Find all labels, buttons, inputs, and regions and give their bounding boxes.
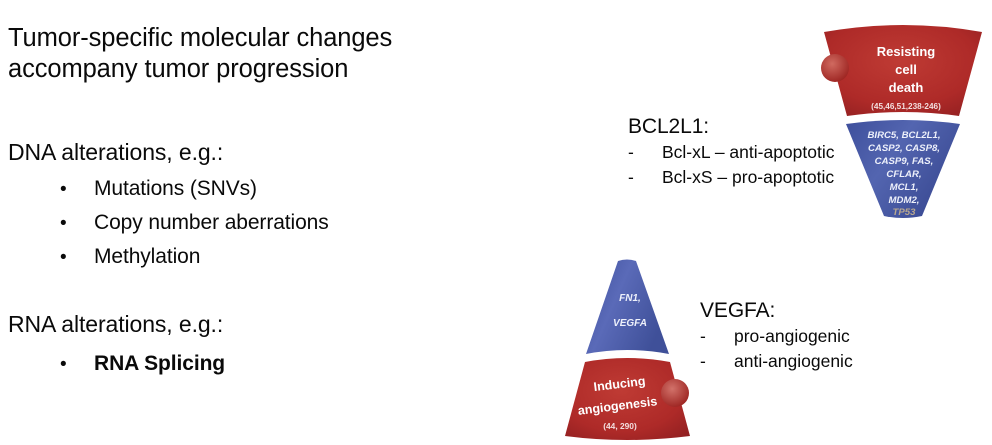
hallmark-citation: (45,46,51,238-246) — [871, 102, 941, 111]
list-item-label: RNA Splicing — [94, 347, 225, 380]
figure-resisting-cell-death: Resisting cell death (45,46,51,238-246) … — [818, 20, 988, 220]
bullet-dot-icon: • — [60, 173, 94, 206]
wedge-bump-circle — [661, 379, 689, 407]
section-heading-rna: RNA alterations, e.g.: — [8, 310, 223, 338]
list-item: - Bcl-xS – pro-apoptotic — [628, 165, 835, 190]
wedge-bump-circle — [821, 54, 849, 82]
list-item: • Methylation — [60, 240, 329, 274]
callout-title: BCL2L1: — [628, 113, 835, 140]
rna-bullet-list: • RNA Splicing — [60, 347, 225, 381]
gene-line: CASP2, CASP8, — [868, 143, 940, 154]
list-item: - pro-angiogenic — [700, 324, 853, 349]
dna-bullet-list: • Mutations (SNVs) • Copy number aberrat… — [60, 172, 329, 274]
section-heading-dna: DNA alterations, e.g.: — [8, 138, 223, 166]
bullet-dot-icon: • — [60, 207, 94, 240]
bullet-dot-icon: • — [60, 241, 94, 274]
hallmark-label-line-1: Resisting — [877, 44, 936, 59]
list-item: • Mutations (SNVs) — [60, 172, 329, 206]
callout-title: VEGFA: — [700, 297, 853, 324]
dash-marker-icon: - — [628, 165, 662, 190]
gene-line: CFLAR, — [886, 169, 921, 180]
hallmark-label-line-3: death — [889, 80, 924, 95]
list-item: - anti-angiogenic — [700, 349, 853, 374]
gene-line: VEGFA — [613, 318, 647, 329]
list-item: - Bcl-xL – anti-apoptotic — [628, 140, 835, 165]
gene-line: MDM2, — [889, 195, 920, 206]
list-item-label: pro-angiogenic — [734, 324, 850, 349]
gene-line: FN1, — [619, 293, 641, 304]
bullet-dot-icon: • — [60, 348, 94, 381]
gene-line: TP53 — [893, 207, 917, 218]
gene-funnel-shape-blue — [586, 260, 669, 355]
list-item: • RNA Splicing — [60, 347, 225, 381]
dash-marker-icon: - — [628, 140, 662, 165]
list-item: • Copy number aberrations — [60, 206, 329, 240]
gene-line: CASP9, FAS, — [875, 156, 934, 167]
callout-vegfa: VEGFA: - pro-angiogenic - anti-angiogeni… — [700, 297, 853, 374]
hallmark-label-line-2: cell — [895, 62, 917, 77]
list-item-label: Methylation — [94, 240, 200, 273]
gene-line: MCL1, — [890, 182, 919, 193]
list-item-label: anti-angiogenic — [734, 349, 853, 374]
page-title: Tumor-specific molecular changes accompa… — [8, 23, 478, 85]
gene-line: BIRC5, BCL2L1, — [867, 130, 940, 141]
figure-inducing-angiogenesis: FN1, VEGFA Inducing angiogenesis (44, 29… — [548, 258, 708, 443]
hallmark-citation: (44, 290) — [603, 421, 637, 431]
callout-dash-list: - Bcl-xL – anti-apoptotic - Bcl-xS – pro… — [628, 140, 835, 190]
list-item-label: Copy number aberrations — [94, 206, 329, 239]
callout-bcl2l1: BCL2L1: - Bcl-xL – anti-apoptotic - Bcl-… — [628, 113, 835, 190]
callout-dash-list: - pro-angiogenic - anti-angiogenic — [700, 324, 853, 374]
list-item-label: Bcl-xL – anti-apoptotic — [662, 140, 835, 165]
list-item-label: Bcl-xS – pro-apoptotic — [662, 165, 834, 190]
list-item-label: Mutations (SNVs) — [94, 172, 257, 205]
